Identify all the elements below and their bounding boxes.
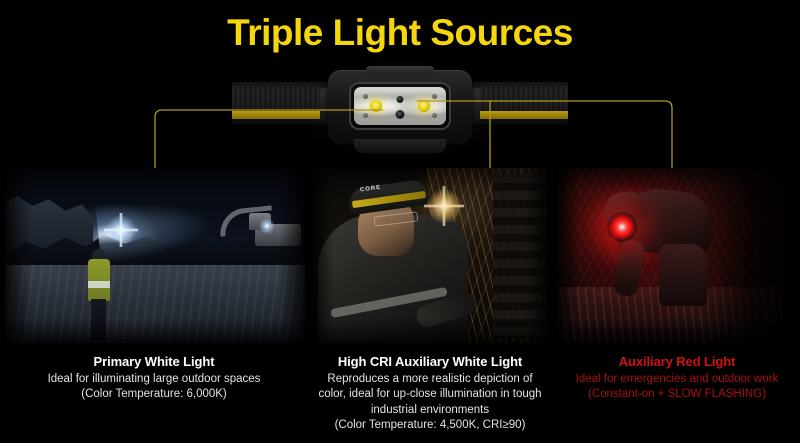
- caption-primary-white-light: Primary White Light Ideal for illuminati…: [4, 354, 304, 403]
- worker-arm: [612, 238, 645, 297]
- scene-night-quarry: [5, 168, 305, 343]
- callout-line-right: [417, 101, 672, 168]
- caption-title: Auxiliary Red Light: [556, 354, 798, 370]
- panel-auxiliary-red-light: [558, 168, 795, 343]
- worker-legs: [91, 299, 106, 341]
- headlamp-flare-icon: [424, 186, 464, 226]
- caption-line: Ideal for emergencies and outdoor work: [556, 372, 798, 388]
- caption-line: industrial environments: [305, 403, 555, 419]
- panel-primary-white-light: [5, 168, 305, 343]
- scene-electrical-technician: CORE: [312, 168, 547, 343]
- scene-red-lit-tunnel: [558, 168, 795, 343]
- worker-figure: [86, 249, 112, 341]
- caption-high-cri-auxiliary-white-light: High CRI Auxiliary White Light Reproduce…: [305, 354, 555, 434]
- excavator: [217, 202, 301, 248]
- tunnel-shadow: [699, 168, 795, 343]
- red-headlamp-glow-icon: [607, 212, 637, 242]
- caption-auxiliary-red-light: Auxiliary Red Light Ideal for emergencie…: [556, 354, 798, 403]
- hi-vis-vest: [88, 259, 110, 301]
- panel-high-cri-auxiliary-white-light: CORE: [312, 168, 547, 343]
- caption-line: Reproduces a more realistic depiction of: [305, 372, 555, 388]
- headlamp-flare-icon: [104, 213, 138, 247]
- caption-title: High CRI Auxiliary White Light: [305, 354, 555, 370]
- caption-line: (Color Temperature: 6,000K): [4, 387, 304, 403]
- caption-line: color, ideal for up-close illumination i…: [305, 387, 555, 403]
- caption-title: Primary White Light: [4, 354, 304, 370]
- marketing-slide: Triple Light Sources CORE NITECO: [0, 0, 800, 443]
- callout-line-left: [155, 110, 383, 168]
- caption-line: Ideal for illuminating large outdoor spa…: [4, 372, 304, 388]
- excavator-work-light: [259, 218, 275, 234]
- caption-line: (Constant-on + SLOW FLASHING): [556, 387, 798, 403]
- equipment-rack: [493, 174, 545, 338]
- caption-line: (Color Temperature: 4,500K, CRI≥90): [305, 418, 555, 434]
- snow-ground: [5, 265, 305, 343]
